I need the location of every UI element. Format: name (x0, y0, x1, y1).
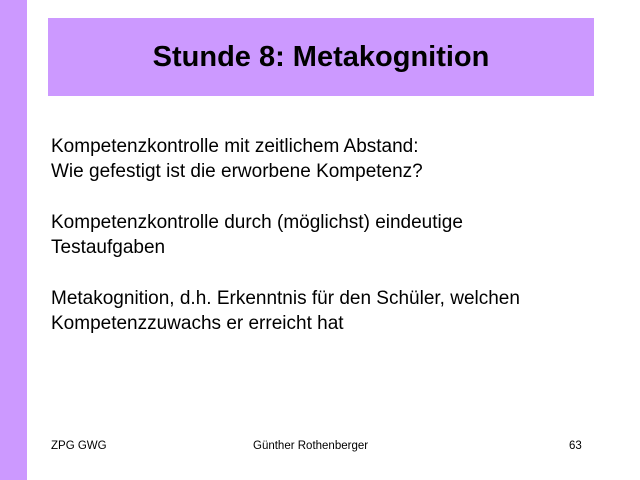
body-paragraph-2: Kompetenzkontrolle durch (möglichst) ein… (51, 210, 611, 260)
footer-page-number: 63 (569, 439, 582, 453)
left-accent-stripe (0, 0, 27, 480)
page-title: Stunde 8: Metakognition (153, 43, 490, 72)
body-paragraph-1: Kompetenzkontrolle mit zeitlichem Abstan… (51, 134, 611, 184)
slide-footer: ZPG GWG Günther Rothenberger 63 (0, 437, 640, 457)
body-paragraph-3: Metakognition, d.h. Erkenntnis für den S… (51, 286, 611, 336)
slide-title-banner: Stunde 8: Metakognition (48, 18, 594, 96)
footer-author: Günther Rothenberger (253, 439, 368, 453)
presentation-slide: Stunde 8: Metakognition Kompetenzkontrol… (0, 0, 640, 480)
footer-organization: ZPG GWG (51, 439, 107, 453)
slide-body: Kompetenzkontrolle mit zeitlichem Abstan… (51, 134, 611, 336)
